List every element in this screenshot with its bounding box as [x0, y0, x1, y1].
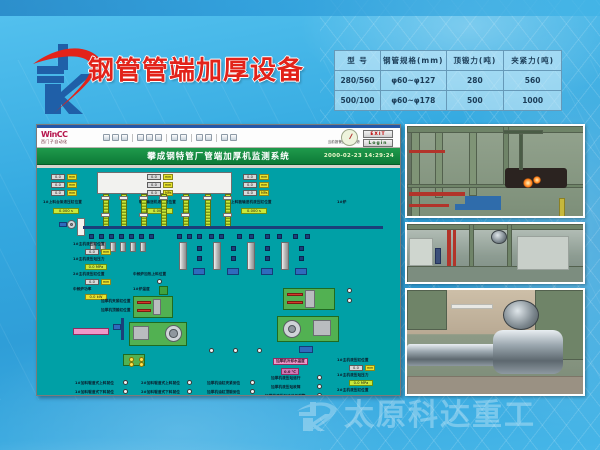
valve-block — [197, 246, 202, 251]
toolbar-divider — [166, 134, 167, 142]
left-readout-unit-1: mm — [101, 249, 111, 255]
center-label-3: 加厚机夹紧缸位置 — [101, 299, 131, 304]
chain-slug-8 — [101, 213, 110, 217]
motor-dial-left — [67, 220, 76, 229]
chain-slug-3 — [139, 196, 148, 200]
clamp-stroke-bar-1 — [137, 301, 151, 304]
status-lamp-top-5 — [347, 298, 352, 303]
spec-header-pipe-size: 钢管规格(mm) — [381, 51, 447, 71]
alarm-bell-icon[interactable] — [171, 134, 178, 141]
status-lamp-5 — [250, 380, 255, 385]
roller — [249, 234, 254, 239]
mid-meter-unit-2: mm — [163, 182, 173, 188]
roller — [109, 234, 114, 239]
chain-slug-6 — [203, 196, 212, 200]
photo-pipe-end-upsetting-closeup — [405, 288, 585, 396]
red-frame — [409, 150, 445, 153]
mid2-group-readout: 0.000 s — [241, 208, 267, 214]
left-readout-caption-1: 1#主机液压缸位置 — [73, 242, 105, 247]
status-lamp-2 — [123, 389, 128, 394]
panel — [409, 238, 433, 266]
clamp-head — [153, 299, 161, 315]
left-readout-value-3: 0.0 — [85, 279, 99, 285]
duct — [519, 134, 523, 170]
yellow-post — [559, 198, 565, 218]
lube-status-label — [73, 328, 109, 335]
tool-head — [503, 300, 539, 330]
mid-meter-value-1: 0.0 — [147, 174, 161, 180]
hydraulic-cylinder-long — [179, 242, 187, 270]
meter-unit-2: mm — [67, 182, 77, 188]
status-lamp-8 — [317, 384, 322, 389]
blue-manifold — [455, 204, 501, 210]
chain-slug-11 — [223, 213, 232, 217]
right-readout-label-2: 1#主机液压站压力 — [337, 373, 369, 378]
right-group-caption: 1#炉 — [337, 200, 346, 205]
wincc-wordmark: WinCC — [41, 131, 97, 139]
right-machine-dial — [283, 320, 301, 338]
status-label-1: 1#加料辊道式上料就位 — [75, 381, 114, 386]
roller — [99, 234, 104, 239]
filter-icon[interactable] — [155, 134, 162, 141]
status-lamp-center-1 — [157, 279, 162, 284]
roller — [139, 234, 144, 239]
status-lamp-6 — [250, 389, 255, 394]
meter-value-1: 0.0 — [51, 174, 65, 180]
pump-unit — [295, 268, 307, 275]
meter-value-2: 0.0 — [51, 182, 65, 188]
chain-slug-10 — [181, 213, 190, 217]
status-label-3: 2#加料辊道式上料就位 — [141, 381, 180, 386]
cylinder — [140, 242, 146, 252]
valve-block — [231, 246, 236, 251]
roller — [237, 234, 242, 239]
open-icon[interactable] — [103, 134, 110, 141]
right-pump-unit — [299, 346, 313, 353]
kd-logo-watermark-icon — [296, 399, 338, 433]
roller — [293, 234, 298, 239]
hmi-toolbar-band: WinCC 西门子自动化 当前报警数据与趋势 EXIT Login — [37, 128, 400, 148]
chain-slug-9 — [139, 213, 148, 217]
spindle — [491, 230, 507, 244]
status-lamp-top-2 — [233, 348, 238, 353]
pump-unit — [227, 268, 239, 275]
arm — [451, 304, 493, 309]
spec-table: 型 号 钢管规格(mm) 顶锻力(吨) 夹紧力(吨) 280/560 φ60~φ… — [334, 50, 562, 111]
motor-block-left — [59, 222, 67, 227]
center-label-4: 加厚机顶锻缸位置 — [101, 308, 131, 313]
status-lamp-top-4 — [347, 288, 352, 293]
status-lamp-top-1 — [209, 348, 214, 353]
roof-beam — [407, 126, 585, 133]
status-lamp-3 — [187, 380, 192, 385]
pump-unit — [193, 268, 205, 275]
left-readout-caption-4: 中频炉功率 — [73, 287, 91, 292]
roof — [407, 224, 585, 230]
aux-lamp-2 — [129, 362, 134, 367]
background-top-band — [0, 0, 600, 16]
save-icon[interactable] — [112, 134, 119, 141]
watermark-text: 太原科达重工 — [344, 401, 536, 431]
mid2-group-caption: 上料链输送机液压缸位置 — [231, 200, 272, 205]
upset-head — [493, 330, 563, 374]
chain-slug-5 — [181, 196, 190, 200]
left-readout-caption-3: 2#主机液压缸位置 — [73, 272, 105, 277]
red-frame — [409, 192, 465, 196]
toolbar-divider — [191, 134, 192, 142]
status-label-6: 加厚机油缸顶锻到位 — [207, 390, 240, 395]
clamp-stroke-bar-2 — [137, 309, 151, 312]
status-label-5: 加厚机油缸夹紧到位 — [207, 381, 240, 386]
hmi-page-title: 攀成钢特管厂管端加厚机监测系统 2000-02-23 14:29:24 — [37, 148, 400, 165]
spec-header-model: 型 号 — [335, 51, 381, 71]
spec-header-clamp-force: 夹紧力(吨) — [504, 51, 562, 71]
left-group-caption: 1#上料台架液压缸位置 — [43, 200, 82, 205]
machine-dial — [165, 325, 182, 342]
wincc-logo: WinCC 西门子自动化 — [37, 131, 97, 144]
red-frame — [409, 204, 449, 207]
meter-unit-1: mm — [67, 174, 77, 180]
hmi-window-buttons: EXIT Login — [363, 130, 397, 148]
status-label-4: 2#加料辊道式下料就位 — [141, 390, 180, 395]
left-readout-unit-3: mm — [101, 279, 111, 285]
spec-header-upset-force: 顶锻力(吨) — [446, 51, 504, 71]
status-lamp-7 — [317, 375, 322, 380]
chain-slug-1 — [101, 196, 110, 200]
cell-clamp-force: 560 — [504, 71, 562, 91]
hmi-page-title-text: 攀成钢特管厂管端加厚机监测系统 — [147, 150, 290, 162]
green-machine-left — [407, 290, 447, 330]
valve-block — [197, 256, 202, 261]
photo-2-content — [407, 224, 583, 282]
mid-meter-unit-1: mm — [163, 174, 173, 180]
feed-pipe — [121, 318, 124, 340]
page-title: 钢管管端加厚设备 — [88, 50, 304, 87]
user-icon[interactable] — [205, 134, 212, 141]
cell-pipe-size: φ60~φ127 — [381, 71, 447, 91]
cell-pipe-size: φ60~φ178 — [381, 91, 447, 111]
column — [469, 224, 474, 270]
zoom-in-icon[interactable] — [137, 134, 144, 141]
photo-workshop-hydraulic-station — [405, 222, 585, 284]
cell-model: 500/100 — [335, 91, 381, 111]
zoom-out-icon[interactable] — [146, 134, 153, 141]
print-icon[interactable] — [121, 134, 128, 141]
hot-glow — [523, 178, 533, 188]
right-stroke-bar-1 — [287, 293, 303, 296]
cylinder — [120, 242, 126, 252]
mid2-meter-value-2: 0.0 — [243, 182, 257, 188]
mid-group-readout: 0.000 s — [147, 208, 173, 214]
left-group-readout: 0.000 s — [53, 208, 79, 214]
mid2-meter-value-1: 0.0 — [243, 174, 257, 180]
watermark: 太原科达重工 — [296, 392, 596, 440]
right-machine-housing — [313, 320, 331, 336]
mid2-meter-unit-3: MPa — [259, 190, 269, 196]
roller — [219, 234, 224, 239]
valve-block — [265, 246, 270, 251]
mid-meter-value-2: 0.0 — [147, 182, 161, 188]
pump-unit — [261, 268, 273, 275]
roller — [197, 234, 202, 239]
right-readout-value-2: 0.0 MPa — [349, 380, 373, 386]
info-icon[interactable] — [196, 134, 203, 141]
status-label-7: 加厚机液压站运行 — [271, 376, 301, 381]
valve-block — [299, 246, 304, 251]
hydraulic-cylinder-long — [281, 242, 289, 270]
toolbar-divider — [132, 134, 133, 142]
right-readout-value-1: 0.0 — [349, 365, 363, 371]
toolbar-divider — [216, 134, 217, 142]
mid2-meter-unit-2: mm — [259, 182, 269, 188]
roller — [177, 234, 182, 239]
status-lamp-4 — [187, 389, 192, 394]
hmi-process-canvas[interactable]: 0.0 mm 0.0 mm 0.0 mm 1#上料台架液压缸位置 0.000 s… — [37, 168, 400, 395]
next-page-icon[interactable] — [230, 134, 237, 141]
cell-model: 280/560 — [335, 71, 381, 91]
left-readout-caption-2: 1#主机液压站压力 — [73, 257, 105, 262]
chain-slug-4 — [159, 196, 168, 200]
chain-slug-2 — [119, 196, 128, 200]
valve-block — [299, 256, 304, 261]
table-row: 500/100 φ60~φ178 500 1000 — [335, 91, 562, 111]
photo-1-content — [407, 126, 583, 216]
photo-heating-furnace-line — [405, 124, 585, 218]
analog-clock-icon — [341, 129, 358, 146]
hydraulic-cylinder-long — [213, 242, 221, 270]
status-lamp-top-3 — [257, 348, 262, 353]
right-readout-label-1: 1#主机液压缸位置 — [337, 358, 369, 363]
center-label-2: 1#炉温度 — [133, 287, 150, 292]
aux-lamp-4 — [139, 362, 144, 367]
mid2-meter-value-3: 0.0 — [243, 190, 257, 196]
hydraulic-cylinder-long — [247, 242, 255, 270]
furnace-module — [159, 286, 168, 295]
cell-upset-force: 280 — [446, 71, 504, 91]
roller — [149, 234, 154, 239]
roller — [305, 234, 310, 239]
pipe-bundle — [503, 130, 543, 134]
chain-slug-7 — [223, 196, 232, 200]
cabinet — [517, 236, 569, 270]
photo-3-content — [407, 290, 583, 394]
center-label-6: 0.0 ℃ — [281, 368, 299, 375]
roller — [209, 234, 214, 239]
center-label-5: 加厚机冷却水温度 — [273, 358, 308, 365]
right-stroke-bar-2 — [287, 301, 303, 304]
roller — [89, 234, 94, 239]
worker — [435, 248, 441, 264]
spec-table-header-row: 型 号 钢管规格(mm) 顶锻力(吨) 夹紧力(吨) — [335, 51, 562, 71]
red-pipe — [447, 230, 451, 270]
exit-button[interactable]: EXIT — [363, 130, 393, 138]
roller — [129, 234, 134, 239]
wincc-subtitle: 西门子自动化 — [41, 140, 97, 144]
valve-block — [231, 256, 236, 261]
status-label-2: 1#加料辊道式下料就位 — [75, 390, 114, 395]
roller — [265, 234, 270, 239]
cell-clamp-force: 1000 — [504, 91, 562, 111]
right-readout-unit-1: mm — [365, 365, 375, 371]
roller — [187, 234, 192, 239]
table-row: 280/560 φ60~φ127 280 560 — [335, 71, 562, 91]
status-label-8: 加厚机液压站故障 — [271, 385, 301, 390]
meter-unit-3: mm — [67, 190, 77, 196]
hmi-window: WinCC 西门子自动化 当前报警数据与趋势 EXIT Login — [36, 124, 401, 396]
red-pipe — [453, 230, 456, 270]
left-readout-value-1: 0.0 — [85, 249, 99, 255]
left-readout-value-2: 0.0 MPa — [85, 264, 107, 270]
status-lamp-1 — [123, 380, 128, 385]
roller — [119, 234, 124, 239]
center-label-1: 中频炉加热上料位置 — [133, 272, 166, 277]
hot-glow — [533, 176, 541, 184]
login-button[interactable]: Login — [363, 139, 393, 147]
prev-page-icon[interactable] — [221, 134, 228, 141]
right-clamp-head — [305, 290, 315, 308]
machine-housing — [133, 326, 149, 340]
main-conveyor-line — [83, 226, 383, 229]
hmi-timestamp: 2000-02-23 14:29:24 — [324, 153, 394, 159]
valve-block — [265, 256, 270, 261]
hmi-graphics-layer: 0.0 mm 0.0 mm 0.0 mm 1#上料台架液压缸位置 0.000 s… — [37, 168, 400, 395]
chart-icon[interactable] — [180, 134, 187, 141]
roller — [277, 234, 282, 239]
cell-upset-force: 500 — [446, 91, 504, 111]
mid2-meter-unit-1: mm — [259, 174, 269, 180]
cylinder — [130, 242, 136, 252]
meter-value-3: 0.0 — [51, 190, 65, 196]
feed-valve — [113, 324, 121, 330]
